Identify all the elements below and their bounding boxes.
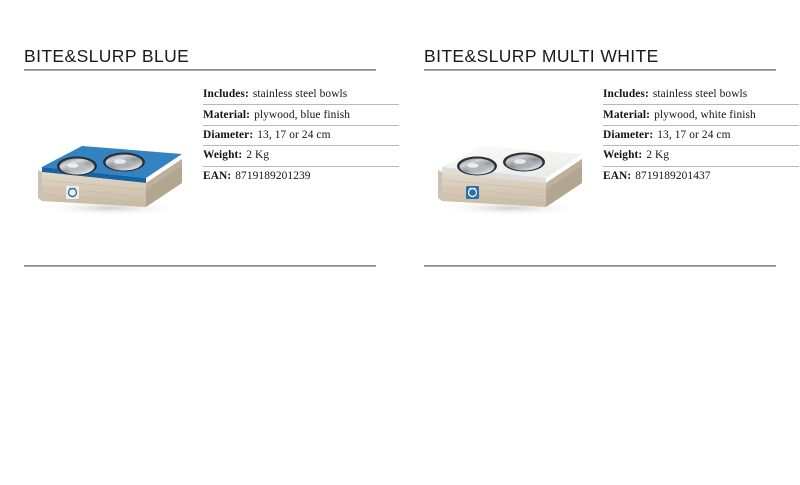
- spec-value: 8719189201437: [635, 170, 710, 182]
- title-divider: [24, 69, 376, 71]
- spec-row: Material: plywood, blue finish: [203, 104, 399, 124]
- product-image-blue: [22, 126, 194, 218]
- spec-value: 2 Kg: [646, 149, 669, 161]
- product-panel-white: BITE&SLURP MULTI WHITE: [400, 0, 800, 485]
- spec-row: Diameter: 13, 17 or 24 cm: [603, 125, 799, 145]
- section-divider: [424, 265, 776, 267]
- spec-value: plywood, blue finish: [254, 109, 350, 121]
- spec-label: Diameter:: [603, 129, 653, 141]
- spec-row: Includes: stainless steel bowls: [603, 84, 799, 104]
- spec-row: Diameter: 13, 17 or 24 cm: [203, 125, 399, 145]
- spec-label: Weight:: [203, 149, 242, 161]
- spec-label: Material:: [203, 109, 250, 121]
- spec-value: plywood, white finish: [654, 109, 756, 121]
- spec-row: Material: plywood, white finish: [603, 104, 799, 124]
- product-catalog: BITE&SLURP BLUE: [0, 0, 800, 485]
- page-title: BITE&SLURP BLUE: [24, 48, 189, 66]
- spec-value: 13, 17 or 24 cm: [257, 129, 330, 141]
- spec-label: Weight:: [603, 149, 642, 161]
- spec-label: EAN:: [203, 170, 231, 182]
- section-divider: [24, 265, 376, 267]
- page-title: BITE&SLURP MULTI WHITE: [424, 48, 659, 66]
- product-image-white: [422, 126, 594, 218]
- spec-table-blue: Includes: stainless steel bowls Material…: [203, 84, 399, 186]
- title-divider: [424, 69, 776, 71]
- spec-label: Diameter:: [203, 129, 253, 141]
- spec-row: Includes: stainless steel bowls: [203, 84, 399, 104]
- spec-value: 13, 17 or 24 cm: [657, 129, 730, 141]
- spec-label: Material:: [603, 109, 650, 121]
- spec-row: EAN: 8719189201437: [603, 166, 799, 186]
- spec-value: 8719189201239: [235, 170, 310, 182]
- spec-row: Weight: 2 Kg: [603, 145, 799, 165]
- spec-value: stainless steel bowls: [253, 88, 347, 100]
- product-panel-blue: BITE&SLURP BLUE: [0, 0, 400, 485]
- spec-value: 2 Kg: [246, 149, 269, 161]
- spec-value: stainless steel bowls: [653, 88, 747, 100]
- spec-row: EAN: 8719189201239: [203, 166, 399, 186]
- spec-label: Includes:: [603, 88, 649, 100]
- spec-table-white: Includes: stainless steel bowls Material…: [603, 84, 799, 186]
- spec-label: EAN:: [603, 170, 631, 182]
- spec-label: Includes:: [203, 88, 249, 100]
- spec-row: Weight: 2 Kg: [203, 145, 399, 165]
